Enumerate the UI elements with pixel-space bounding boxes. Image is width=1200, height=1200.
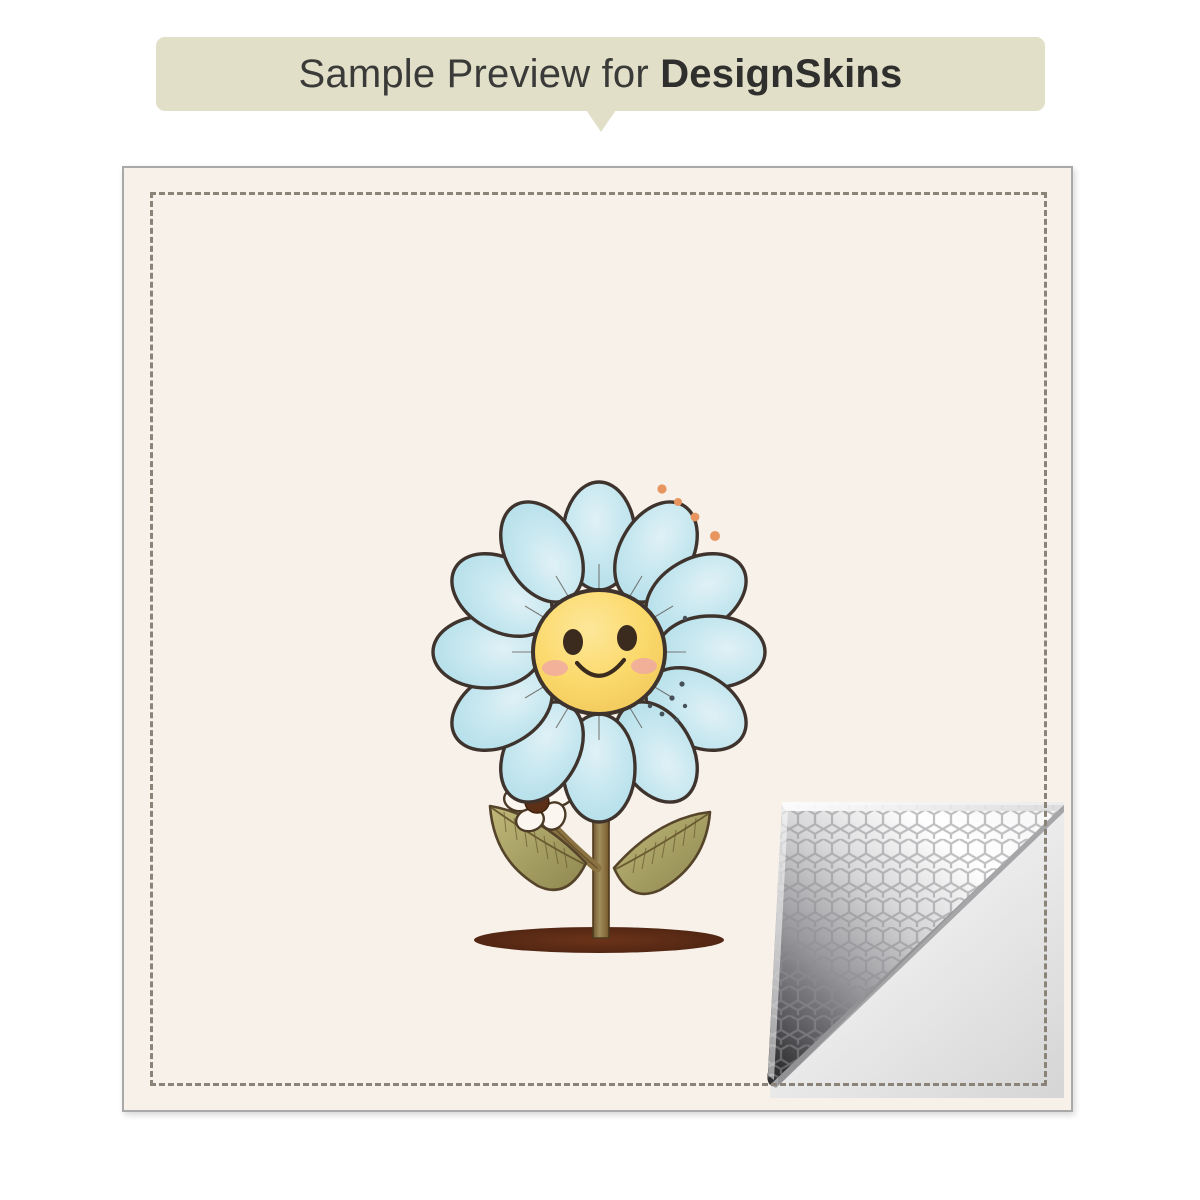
banner-brand-name: DesignSkins [660,52,902,96]
preview-canvas: Sample Preview for DesignSkins [0,0,1200,1200]
blush-right [631,658,657,674]
banner-tail-arrow [586,110,616,132]
leaf-right [614,812,710,894]
flower-face [533,590,665,714]
blush-left [542,660,568,676]
eye-left [563,629,583,655]
sample-sheet-card[interactable] [122,166,1073,1112]
peeling-corner[interactable] [764,780,1064,1098]
sample-preview-banner: Sample Preview for DesignSkins [156,37,1045,111]
eye-right [617,625,637,651]
flower-artwork [434,468,764,988]
banner-text-regular: Sample Preview for [299,52,661,96]
banner-text: Sample Preview for DesignSkins [299,52,903,97]
